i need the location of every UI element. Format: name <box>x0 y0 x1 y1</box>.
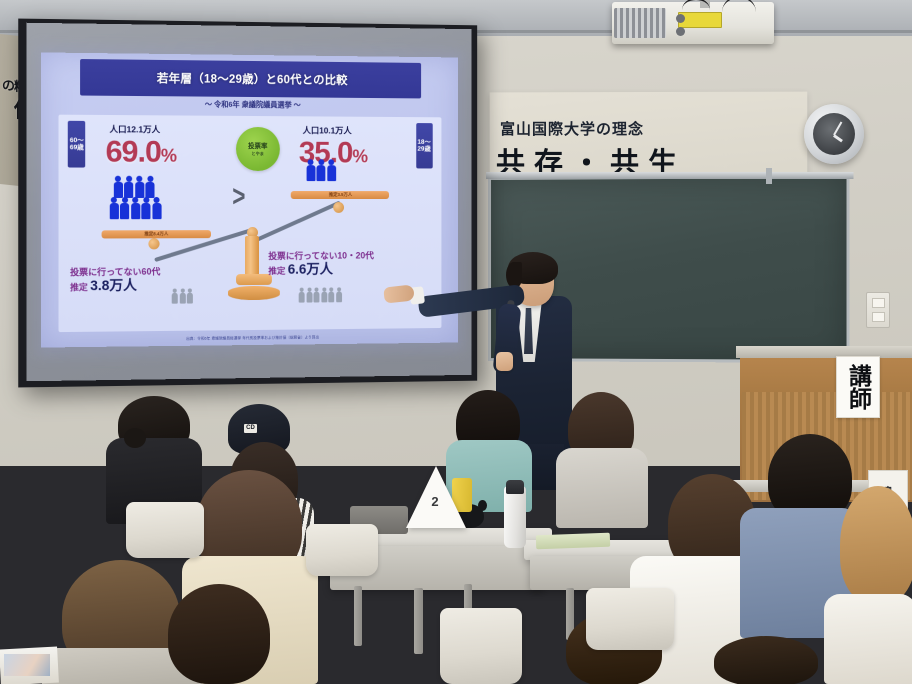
badge-line-1: 投票率 <box>248 140 267 150</box>
speaker-right-hand <box>496 352 513 371</box>
slide-footnote: 出典：令和6年 衆議院議員総選挙 年代別投票率および推計値（総務省）より算出 <box>63 334 438 343</box>
figure-group-youth <box>306 159 336 181</box>
scale-pan-senior: 推定8.4万人 <box>102 230 211 238</box>
lecturer-sign-text: 講師 <box>847 364 870 410</box>
blackboard-chalk-rail <box>486 172 853 179</box>
age-tag-senior: 60〜69歳 <box>68 121 85 168</box>
person-figure-icon <box>321 287 327 302</box>
scale-base-upper <box>236 274 272 285</box>
switch-toggle[interactable] <box>872 298 885 308</box>
thermos-cap <box>506 480 524 494</box>
nonvoter-block-senior: 投票に行ってない60代 推定 3.8万人 <box>70 267 160 296</box>
projector-cable <box>682 0 710 10</box>
scale-pillar <box>245 236 259 278</box>
person-figure-icon <box>328 287 334 302</box>
figure-group-nonvoter-senior <box>172 288 193 303</box>
person-figure-icon <box>336 287 342 302</box>
badge-line-2: とやま <box>251 151 264 157</box>
person-figure-icon <box>109 197 118 219</box>
projector-knob <box>676 14 685 23</box>
person-figure-icon <box>152 197 161 219</box>
scale-pan-label-youth: 推定3.5万人 <box>329 192 352 198</box>
wall-clock-icon <box>804 104 864 164</box>
person-figure-icon <box>124 176 133 198</box>
desk-leg <box>354 586 362 646</box>
desk-leg <box>414 588 423 654</box>
table-number: 2 <box>426 494 444 509</box>
person-figure-icon <box>299 287 305 302</box>
person-figure-icon <box>306 159 315 181</box>
nonvoter-label-senior: 投票に行ってない60代 <box>70 267 160 279</box>
slide-title-bar: 若年層（18〜29歳）と60代との比較 <box>80 59 422 99</box>
nonvoter-block-youth: 投票に行ってない10・20代 推定 6.6万人 <box>268 251 374 279</box>
voter-turnout-badge: 投票率 とやま <box>236 127 280 171</box>
scale-pivot-left <box>149 238 160 249</box>
scale-pivot-right <box>333 202 344 213</box>
blackboard-clip <box>766 168 772 184</box>
audience-hair <box>168 584 270 684</box>
audience-torso <box>556 448 648 528</box>
notebook <box>536 533 610 550</box>
person-figure-icon <box>135 176 144 198</box>
light-switch-panel[interactable] <box>866 292 890 328</box>
nonvoter-label-youth: 投票に行ってない10・20代 <box>268 251 374 262</box>
greater-than-sign: > <box>232 180 245 214</box>
switch-toggle[interactable] <box>872 312 885 322</box>
thermos-bottle <box>504 486 526 548</box>
scale-base <box>228 286 280 300</box>
lecturer-sign: 講師 <box>836 356 880 418</box>
chair-back <box>440 608 522 684</box>
person-figure-icon <box>314 287 320 302</box>
nonvoter-value-senior: 推定 3.8万人 <box>70 278 160 296</box>
scale-pan-label-senior: 推定8.4万人 <box>144 231 168 237</box>
slide-subtitle: 〜 令和6年 衆議院議員選挙 〜 <box>41 98 458 111</box>
podium-top-surface <box>736 346 912 358</box>
person-figure-icon <box>131 197 140 219</box>
chair-back <box>586 588 674 650</box>
cap-logo: CD <box>244 424 257 433</box>
lecture-hall-photo: の精神 個 富山国際大学の理念 共存・共生 若年層（18〜29歳）と60代との比… <box>0 0 912 684</box>
audience-hair <box>714 636 818 684</box>
nonvoter-value-youth: 推定 6.6万人 <box>268 261 374 278</box>
population-label-youth: 人口10.1万人 <box>303 125 352 137</box>
age-tag-youth: 18〜29歳 <box>416 123 432 168</box>
projector-cable <box>722 0 756 12</box>
person-figure-icon <box>113 176 122 198</box>
population-label-senior: 人口12.1万人 <box>109 124 160 136</box>
person-figure-icon <box>327 159 336 181</box>
projected-slide: 若年層（18〜29歳）と60代との比較 〜 令和6年 衆議院議員選挙 〜 60〜… <box>41 52 458 347</box>
audience-hair-bun <box>124 428 146 448</box>
chair-back <box>306 524 378 576</box>
projector-vent-icon <box>614 8 666 38</box>
percent-senior: 69.0% <box>106 139 176 168</box>
person-figure-icon <box>306 287 312 302</box>
person-figure-icon <box>180 288 186 303</box>
scale-beam-right <box>256 200 341 241</box>
person-figure-icon <box>172 288 178 303</box>
figure-group-senior-back <box>113 176 154 198</box>
audience-torso <box>824 594 912 684</box>
person-figure-icon <box>187 288 193 303</box>
person-figure-icon <box>317 159 326 181</box>
audience-hair-blonde <box>840 486 912 604</box>
handout-paper-color <box>4 654 50 676</box>
scale-pan-youth: 推定3.5万人 <box>291 191 389 199</box>
slide-title: 若年層（18〜29歳）と60代との比較 <box>157 70 348 88</box>
chair-back <box>126 502 204 558</box>
banner-subtitle: 富山国際大学の理念 <box>500 118 800 139</box>
figure-group-nonvoter-youth <box>299 287 342 302</box>
person-figure-icon <box>145 176 154 198</box>
person-figure-icon <box>120 197 129 219</box>
projector-knob <box>676 27 685 36</box>
figure-group-senior-front <box>109 197 161 219</box>
person-figure-icon <box>142 197 151 219</box>
